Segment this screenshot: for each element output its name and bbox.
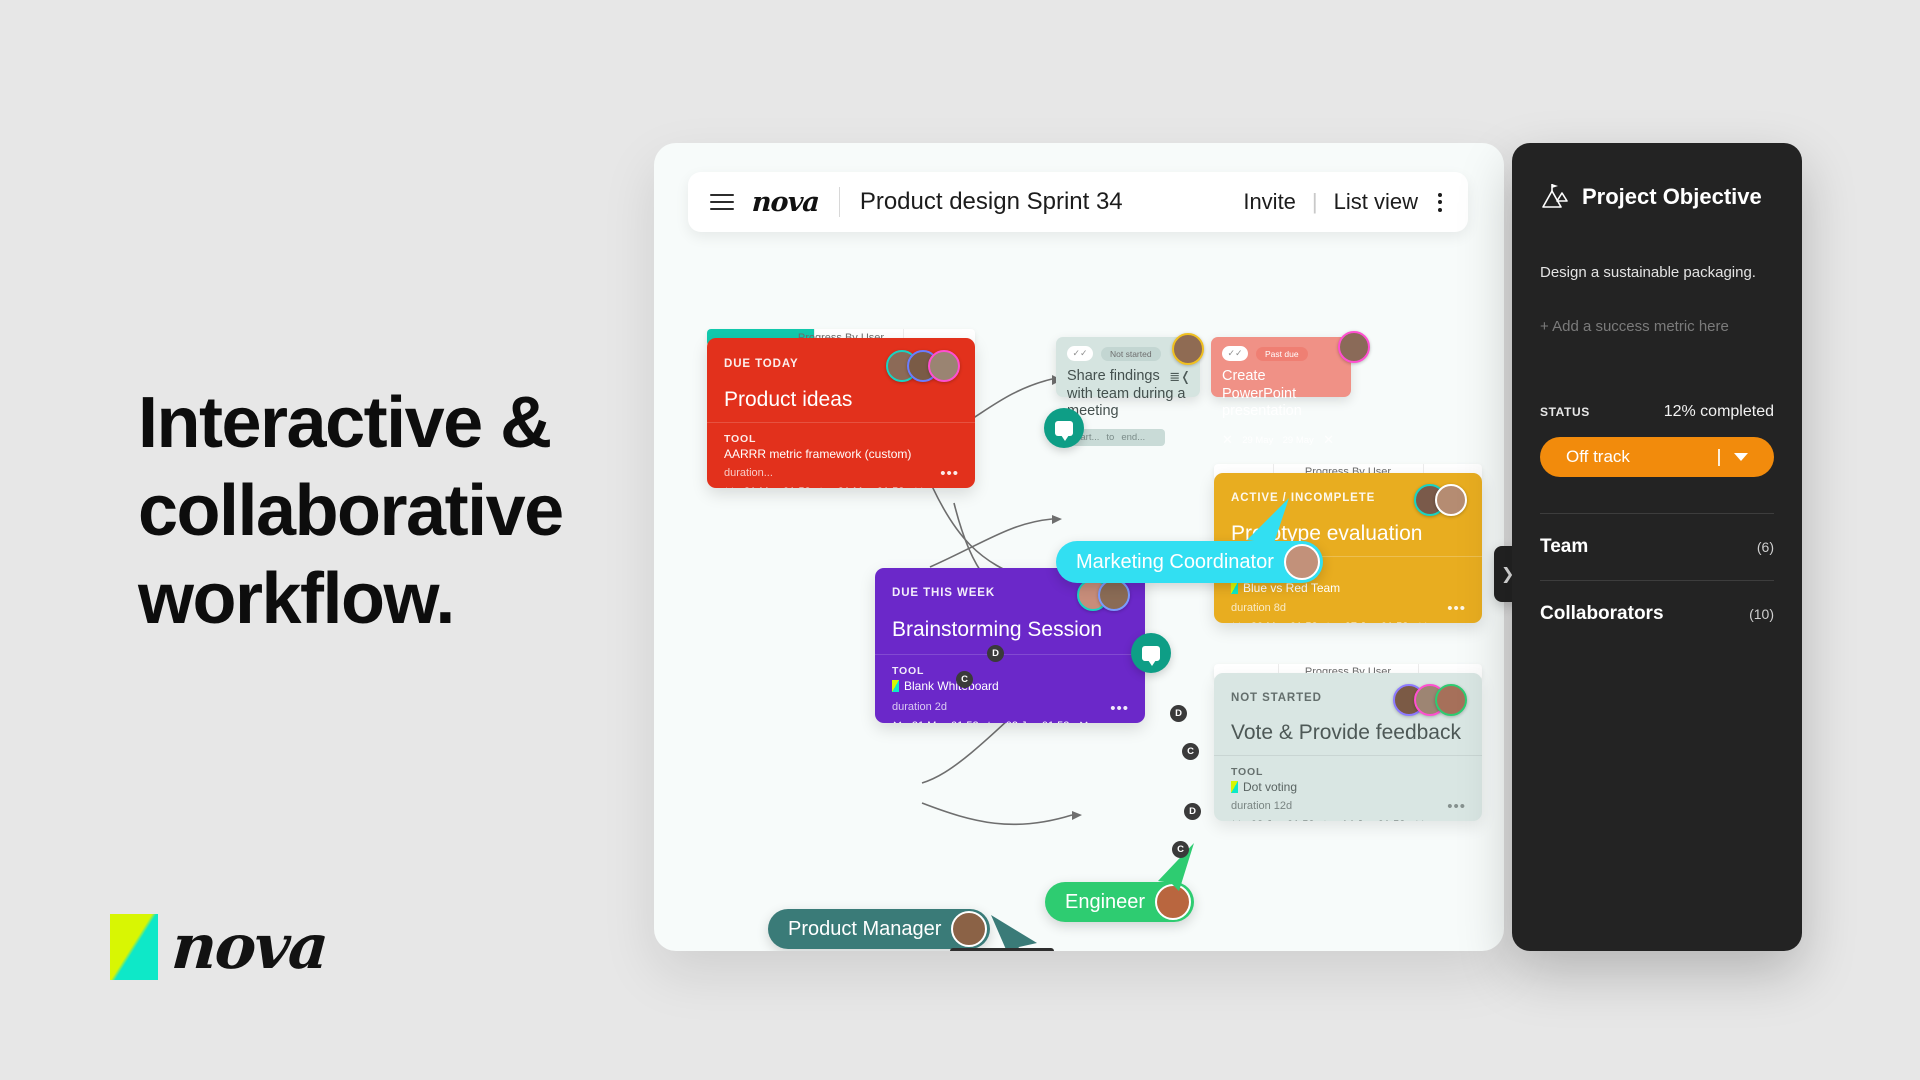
card-date-start: 29 May	[1242, 435, 1273, 446]
card-avatar-powerpoint[interactable]	[1338, 331, 1370, 363]
calendar-x-icon[interactable]: ✕	[1222, 432, 1233, 448]
card-date-start: 31 May 01:52	[744, 486, 811, 488]
avatar	[928, 350, 960, 382]
card-avatars[interactable]	[1393, 684, 1467, 716]
team-label: Team	[1540, 536, 1588, 558]
checklist-icon[interactable]: ✓✓	[1067, 346, 1093, 361]
card-tool-label: TOOL	[724, 433, 756, 445]
card-date-end: 29 May	[1283, 435, 1314, 446]
card-date-end: 14 Jun 01:52	[1342, 819, 1406, 821]
card-tool-name: AARRR metric framework (custom)	[724, 447, 911, 461]
sidebar-header: Project Objective	[1540, 183, 1774, 211]
card-avatars[interactable]	[886, 350, 960, 382]
card-date-join: to	[1324, 819, 1333, 821]
card-tool-label: TOOL	[1231, 766, 1263, 778]
calendar-x-icon[interactable]: ✕	[1231, 619, 1242, 623]
card-brainstorming-session[interactable]: DUE THIS WEEK Brainstorming Session TOOL…	[875, 568, 1145, 723]
cursor-label: Marketing Coordinator	[1076, 551, 1274, 574]
card-dates[interactable]: ✕ 29 May 29 May ✕	[1222, 429, 1340, 451]
card-date-end: 31 May 01:52	[838, 486, 905, 488]
clear-date-icon[interactable]: ✕	[1417, 619, 1428, 623]
avatar	[951, 911, 987, 947]
card-more-icon[interactable]: •••	[1110, 700, 1129, 717]
status-badge: Not started	[1101, 347, 1161, 361]
tool-swatch-icon	[1231, 582, 1238, 594]
calendar-x-icon[interactable]: ✕	[724, 484, 735, 488]
card-date-join: to	[1327, 621, 1336, 623]
calendar-x-icon[interactable]: ✕	[1231, 817, 1242, 821]
card-product-ideas[interactable]: DUE TODAY Product ideas TOOL AARRR metri…	[707, 338, 975, 488]
nova-logo: nova	[110, 910, 327, 983]
cursor-product-manager: Product Manager	[768, 909, 990, 949]
card-tool-label: TOOL	[892, 665, 924, 677]
status-dropdown-button[interactable]: Off track	[1540, 437, 1774, 477]
clear-date-icon[interactable]: ✕	[913, 484, 924, 488]
calendar-x-icon[interactable]: ✕	[892, 718, 903, 723]
card-title: Product ideas	[724, 388, 852, 412]
card-avatars[interactable]	[1077, 579, 1130, 611]
project-objective-panel: Project Objective Design a sustainable p…	[1512, 143, 1802, 951]
editing-tooltip: Editing...	[950, 948, 1054, 951]
tool-swatch-icon	[892, 680, 899, 692]
card-tool: Dot voting	[1231, 780, 1297, 794]
card-date-end: 07 Jun 01:52	[1345, 621, 1409, 623]
connector-badge-d[interactable]: D	[1170, 705, 1187, 722]
card-dates[interactable]: ✕ 31 May 01:52 to 31 May 01:52 ✕	[724, 484, 924, 488]
sidebar-title: Project Objective	[1582, 184, 1762, 210]
clear-date-icon[interactable]: ✕	[1414, 817, 1425, 821]
card-title: Create PowerPoint presentation	[1222, 368, 1340, 421]
status-row: STATUS 12% completed	[1540, 403, 1774, 421]
card-duration: duration 2d	[892, 701, 947, 713]
avatar	[1338, 331, 1370, 363]
sidebar-row-collaborators[interactable]: Collaborators (10)	[1540, 581, 1774, 647]
objective-description[interactable]: Design a sustainable packaging.	[1540, 264, 1774, 281]
app-window: nova Product design Sprint 34 Invite | L…	[654, 143, 1504, 951]
card-vote-provide-feedback[interactable]: NOT STARTED Vote & Provide feedback TOOL…	[1214, 673, 1482, 821]
cursor-pointer-marketing-icon	[1239, 498, 1299, 553]
card-status: NOT STARTED	[1231, 692, 1322, 704]
add-success-metric-link[interactable]: + Add a success metric here	[1540, 318, 1774, 335]
card-status: DUE THIS WEEK	[892, 587, 995, 599]
card-title: Vote & Provide feedback	[1231, 721, 1461, 745]
card-date-end: 02 Jun 01:52	[1006, 720, 1070, 723]
card-tool-name: Dot voting	[1243, 780, 1297, 794]
card-dates[interactable]: ✕ 31 May 01:52 to 02 Jun 01:52 ✕	[892, 718, 1089, 723]
collaborators-label: Collaborators	[1540, 603, 1664, 625]
card-avatars[interactable]	[1414, 484, 1467, 516]
card-dates[interactable]: ✕ 30 May 01:52 to 07 Jun 01:52 ✕	[1231, 619, 1428, 623]
avatar	[1172, 333, 1204, 365]
connector-badge-c[interactable]: C	[1172, 841, 1189, 858]
status-badge: Past due	[1256, 347, 1308, 361]
comment-bubble-icon[interactable]	[1131, 633, 1171, 673]
status-completion: 12% completed	[1664, 403, 1774, 421]
card-tool: AARRR metric framework (custom)	[724, 447, 911, 461]
comment-bubble-icon[interactable]	[1044, 408, 1084, 448]
card-more-icon[interactable]: •••	[1447, 798, 1466, 815]
card-duration: duration 8d	[1231, 602, 1286, 614]
card-date-start: 30 May 01:52	[1251, 621, 1318, 623]
chevron-down-icon[interactable]	[1734, 453, 1748, 461]
card-tool: Blue vs Red Team	[1231, 581, 1340, 595]
connector-badge-c[interactable]: C	[1182, 743, 1199, 760]
card-more-icon[interactable]: •••	[940, 465, 959, 482]
mountain-flag-icon	[1540, 183, 1568, 211]
card-title: Brainstorming Session	[892, 618, 1102, 642]
nova-logo-mark-icon	[110, 914, 158, 980]
collaborators-count: (10)	[1749, 606, 1774, 622]
status-dropdown-value: Off track	[1566, 447, 1630, 467]
card-date-join: to	[988, 720, 997, 723]
status-label: STATUS	[1540, 405, 1590, 419]
card-tool: Blank Whiteboard	[892, 679, 999, 693]
clear-date-icon[interactable]: ✕	[1078, 718, 1089, 723]
connector-badge-d[interactable]: D	[1184, 803, 1201, 820]
card-date-join: to	[1106, 432, 1114, 443]
card-duration: duration 12d	[1231, 800, 1292, 812]
card-date-join: to	[820, 486, 829, 488]
card-dates[interactable]: ✕ 02 Jun 01:52 to 14 Jun 01:52 ✕	[1231, 817, 1425, 821]
list-lines-icon[interactable]: ≣❬	[1169, 369, 1191, 385]
card-date-start: 02 Jun 01:52	[1251, 819, 1315, 821]
card-date-end: end...	[1121, 432, 1145, 443]
card-tool-name: Blue vs Red Team	[1243, 581, 1340, 595]
card-status: DUE TODAY	[724, 358, 799, 370]
card-duration: duration...	[724, 467, 773, 479]
avatar	[1435, 684, 1467, 716]
cursor-pointer-product-manager-icon	[989, 913, 1043, 951]
team-count: (6)	[1757, 539, 1774, 555]
card-avatar-share-findings[interactable]	[1172, 333, 1204, 365]
card-date-start: 31 May 01:52	[912, 720, 979, 723]
card-tool-name: Blank Whiteboard	[904, 679, 999, 693]
nova-logo-wordmark: nova	[169, 910, 329, 983]
cursor-label: Engineer	[1065, 891, 1145, 914]
dropdown-divider	[1718, 449, 1720, 466]
connector-badge-d[interactable]: D	[987, 645, 1004, 662]
sidebar-row-team[interactable]: Team (6)	[1540, 514, 1774, 580]
card-more-icon[interactable]: •••	[1447, 600, 1466, 617]
clear-date-icon[interactable]: ✕	[1323, 432, 1334, 448]
tool-swatch-icon	[1231, 781, 1238, 793]
avatar	[1435, 484, 1467, 516]
card-create-powerpoint[interactable]: ✓✓ Past due Create PowerPoint presentati…	[1211, 337, 1351, 397]
checklist-icon[interactable]: ✓✓	[1222, 346, 1248, 361]
cursor-label: Product Manager	[788, 918, 941, 941]
connector-badge-c[interactable]: C	[956, 671, 973, 688]
avatar	[1098, 579, 1130, 611]
